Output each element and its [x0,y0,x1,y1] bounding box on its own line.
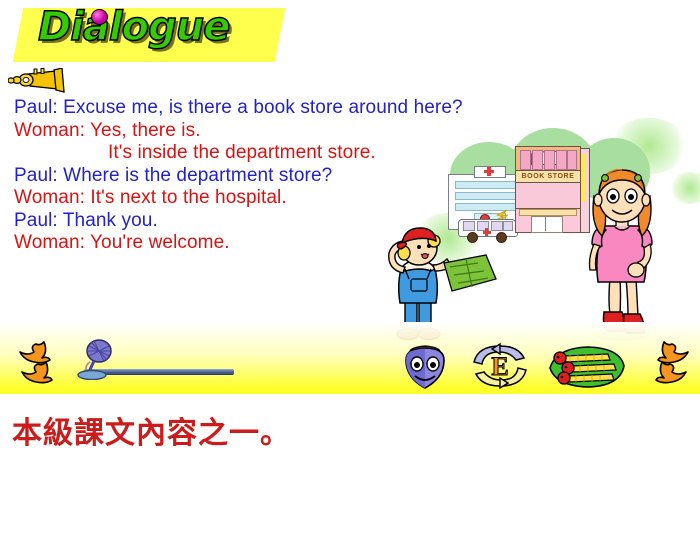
map-icon [442,253,498,293]
ambulance-vehicle [458,215,516,241]
ambulance-window [491,221,503,231]
bookstore-door-divider [545,216,546,231]
dialogue-line-1: Paul: Excuse me, is there a book store a… [14,97,574,120]
page-title: Dialogue [38,7,229,47]
title-dot-decoration [91,9,108,25]
svg-text:E: E [491,352,508,381]
bookstore-building: BOOK STORE [515,146,587,231]
ambulance-wheel [467,232,478,243]
bookstore-panel [532,150,543,170]
e-refresh-icon[interactable]: E [470,342,530,390]
title-banner: Dialogue [0,0,310,66]
bookstore-door [531,216,563,233]
bookstore-middle-floor [515,182,581,210]
ambulance-window [503,221,513,231]
red-cross-icon [483,231,491,234]
lesson-page: Dialogue Paul: Excuse me, is there a boo… [0,0,700,550]
bookstore-panel [556,150,567,170]
bookstore-panel [544,150,555,170]
ambulance-window [463,221,475,231]
green-blob [670,172,700,204]
microphone-icon[interactable] [72,338,116,380]
bookstore-panel [567,150,577,170]
face-mask-icon[interactable] [400,344,450,390]
bookstore-panel [520,150,531,170]
lesson-caption: 本級課文內容之一。 [12,408,291,452]
corn-leaf-icon[interactable] [546,344,628,390]
woman-character [582,166,660,341]
trumpet-icon [8,68,66,94]
back-arrow-icon[interactable] [14,340,60,384]
red-cross-icon [484,170,494,174]
ambulance-wheel [496,232,507,243]
bookstore-awning [519,209,577,216]
forward-arrow-icon[interactable] [648,340,694,384]
